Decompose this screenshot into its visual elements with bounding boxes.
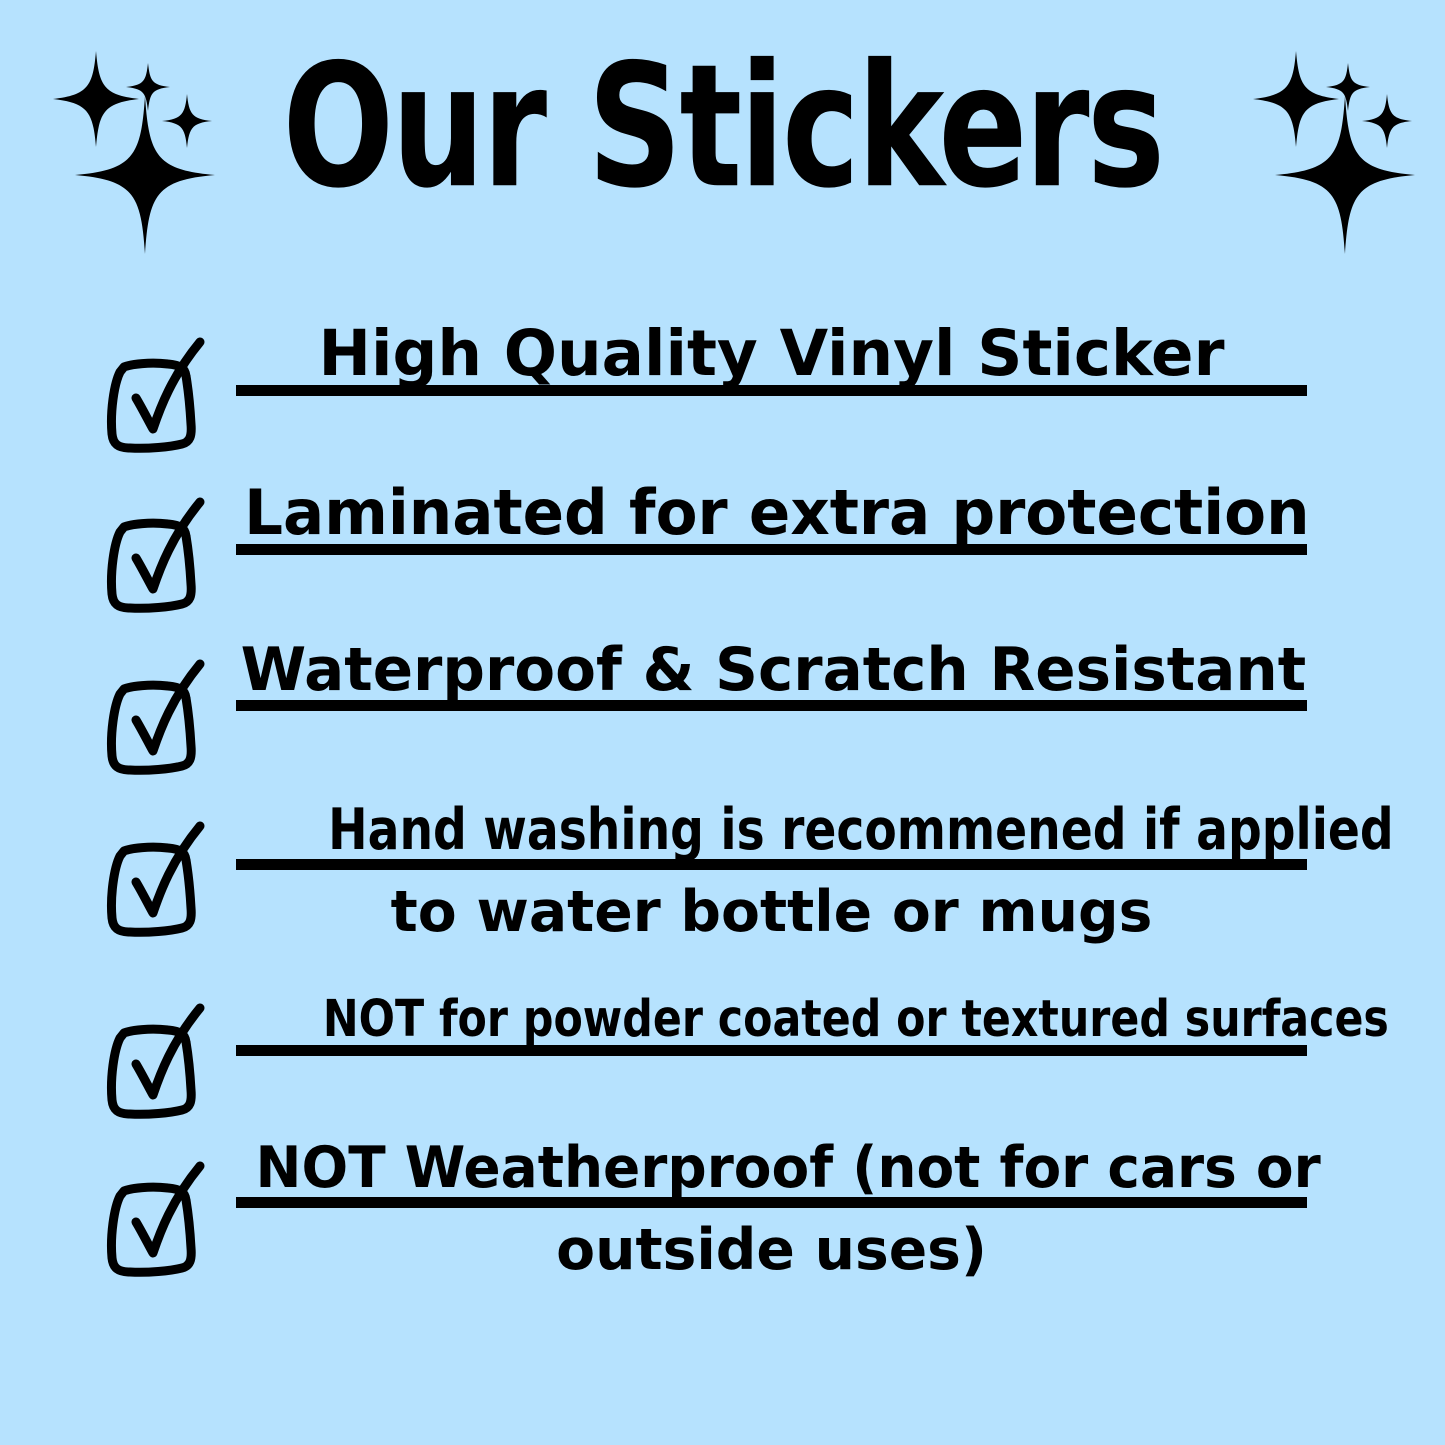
header: Our Stickers bbox=[0, 0, 1445, 300]
list-item-body: NOT for powder coated or textured surfac… bbox=[236, 994, 1307, 1056]
list-item-body: NOT Weatherproof (not for cars or outsid… bbox=[236, 1140, 1307, 1279]
list-item-label: High Quality Vinyl Sticker bbox=[239, 322, 1305, 385]
list-item-label: Waterproof & Scratch Resistant bbox=[241, 640, 1303, 700]
sparkle-cluster-icon bbox=[1248, 38, 1433, 268]
list-item-label: Laminated for extra protection bbox=[244, 482, 1299, 544]
checked-checkbox-icon[interactable] bbox=[100, 658, 208, 780]
list-item-label: NOT Weatherproof (not for cars or bbox=[256, 1140, 1288, 1197]
page-title: Our Stickers bbox=[99, 43, 1347, 211]
checked-checkbox-icon[interactable] bbox=[100, 496, 208, 618]
sticker-info-card: { "colors": { "background": "#b6e2fe", "… bbox=[0, 0, 1445, 1445]
list-item-label-continued: to water bottle or mugs bbox=[239, 884, 1305, 941]
list-item-body: Hand washing is recommened if applied to… bbox=[236, 802, 1307, 941]
checked-checkbox-icon[interactable] bbox=[100, 1160, 208, 1282]
list-item-label-continued: outside uses) bbox=[239, 1222, 1305, 1279]
list-item-label: Hand washing is recommened if applied bbox=[328, 802, 1215, 859]
checked-checkbox-icon[interactable] bbox=[100, 820, 208, 942]
list-item-body: Waterproof & Scratch Resistant bbox=[236, 640, 1307, 711]
list-item-body: Laminated for extra protection bbox=[236, 482, 1307, 555]
list-item-body: High Quality Vinyl Sticker bbox=[236, 322, 1307, 396]
list-item-label: NOT for powder coated or textured surfac… bbox=[323, 994, 1220, 1045]
checked-checkbox-icon[interactable] bbox=[100, 336, 208, 458]
checked-checkbox-icon[interactable] bbox=[100, 1002, 208, 1124]
